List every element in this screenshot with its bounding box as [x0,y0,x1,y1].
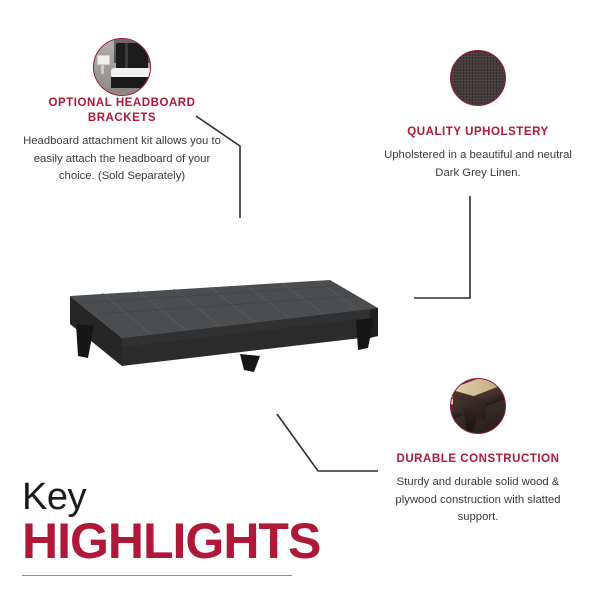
feature-quality-upholstery: QUALITY UPHOLSTERY Upholstered in a beau… [378,50,578,182]
infographic-canvas: OPTIONAL HEADBOARD BRACKETS Headboard at… [0,0,600,600]
feature-body-upholstery: Upholstered in a beautiful and neutral D… [378,147,578,182]
feature-title-durable: DURABLE CONSTRUCTION [378,452,578,467]
wood-slat-frame-corner-icon [450,378,506,434]
heading-divider [22,575,292,576]
key-highlights-heading: Key HIGHLIGHTS [22,478,320,576]
connector-durable [277,414,378,471]
highlights-word: HIGHLIGHTS [22,516,320,566]
headboard-bedroom-photo-icon [93,38,151,96]
platform-bed-base-photo [26,262,378,372]
feature-optional-headboard-brackets: OPTIONAL HEADBOARD BRACKETS Headboard at… [22,38,222,186]
feature-title-headboard: OPTIONAL HEADBOARD BRACKETS [22,96,222,126]
feature-body-headboard: Headboard attachment kit allows you to e… [22,133,222,186]
dark-grey-linen-fabric-swatch-icon [450,50,506,106]
key-word: Key [22,478,320,516]
feature-durable-construction: DURABLE CONSTRUCTION Sturdy and durable … [378,378,578,527]
feature-body-durable: Sturdy and durable solid wood & plywood … [378,474,578,527]
connector-upholstery [414,196,470,298]
feature-title-upholstery: QUALITY UPHOLSTERY [378,125,578,140]
